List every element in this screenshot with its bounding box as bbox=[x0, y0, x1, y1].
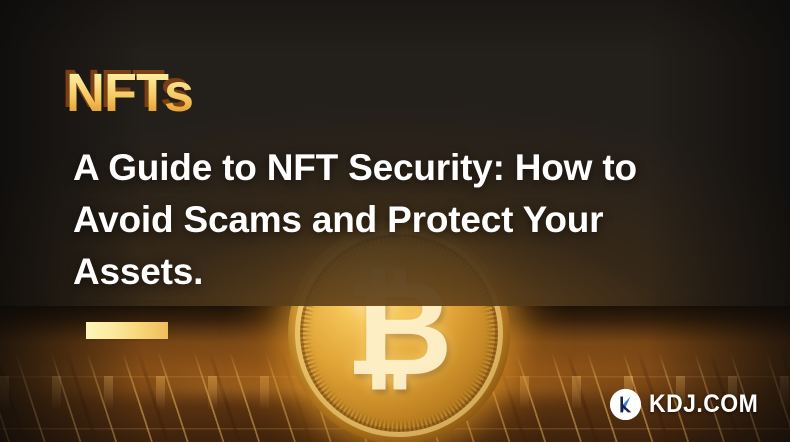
brand-name: KDJ.COM bbox=[649, 392, 758, 417]
page-title: A Guide to NFT Security: How to Avoid Sc… bbox=[73, 142, 698, 298]
banner-content: NFTs A Guide to NFT Security: How to Avo… bbox=[0, 0, 790, 442]
kdj-badge-icon bbox=[610, 389, 641, 420]
kicker-label: NFTs bbox=[66, 66, 193, 120]
nft-security-banner: ₿ NFTs A Guide to NFT Security: How to A… bbox=[0, 0, 790, 442]
brand-logo[interactable]: KDJ.COM bbox=[610, 389, 768, 420]
accent-bar bbox=[86, 322, 168, 339]
